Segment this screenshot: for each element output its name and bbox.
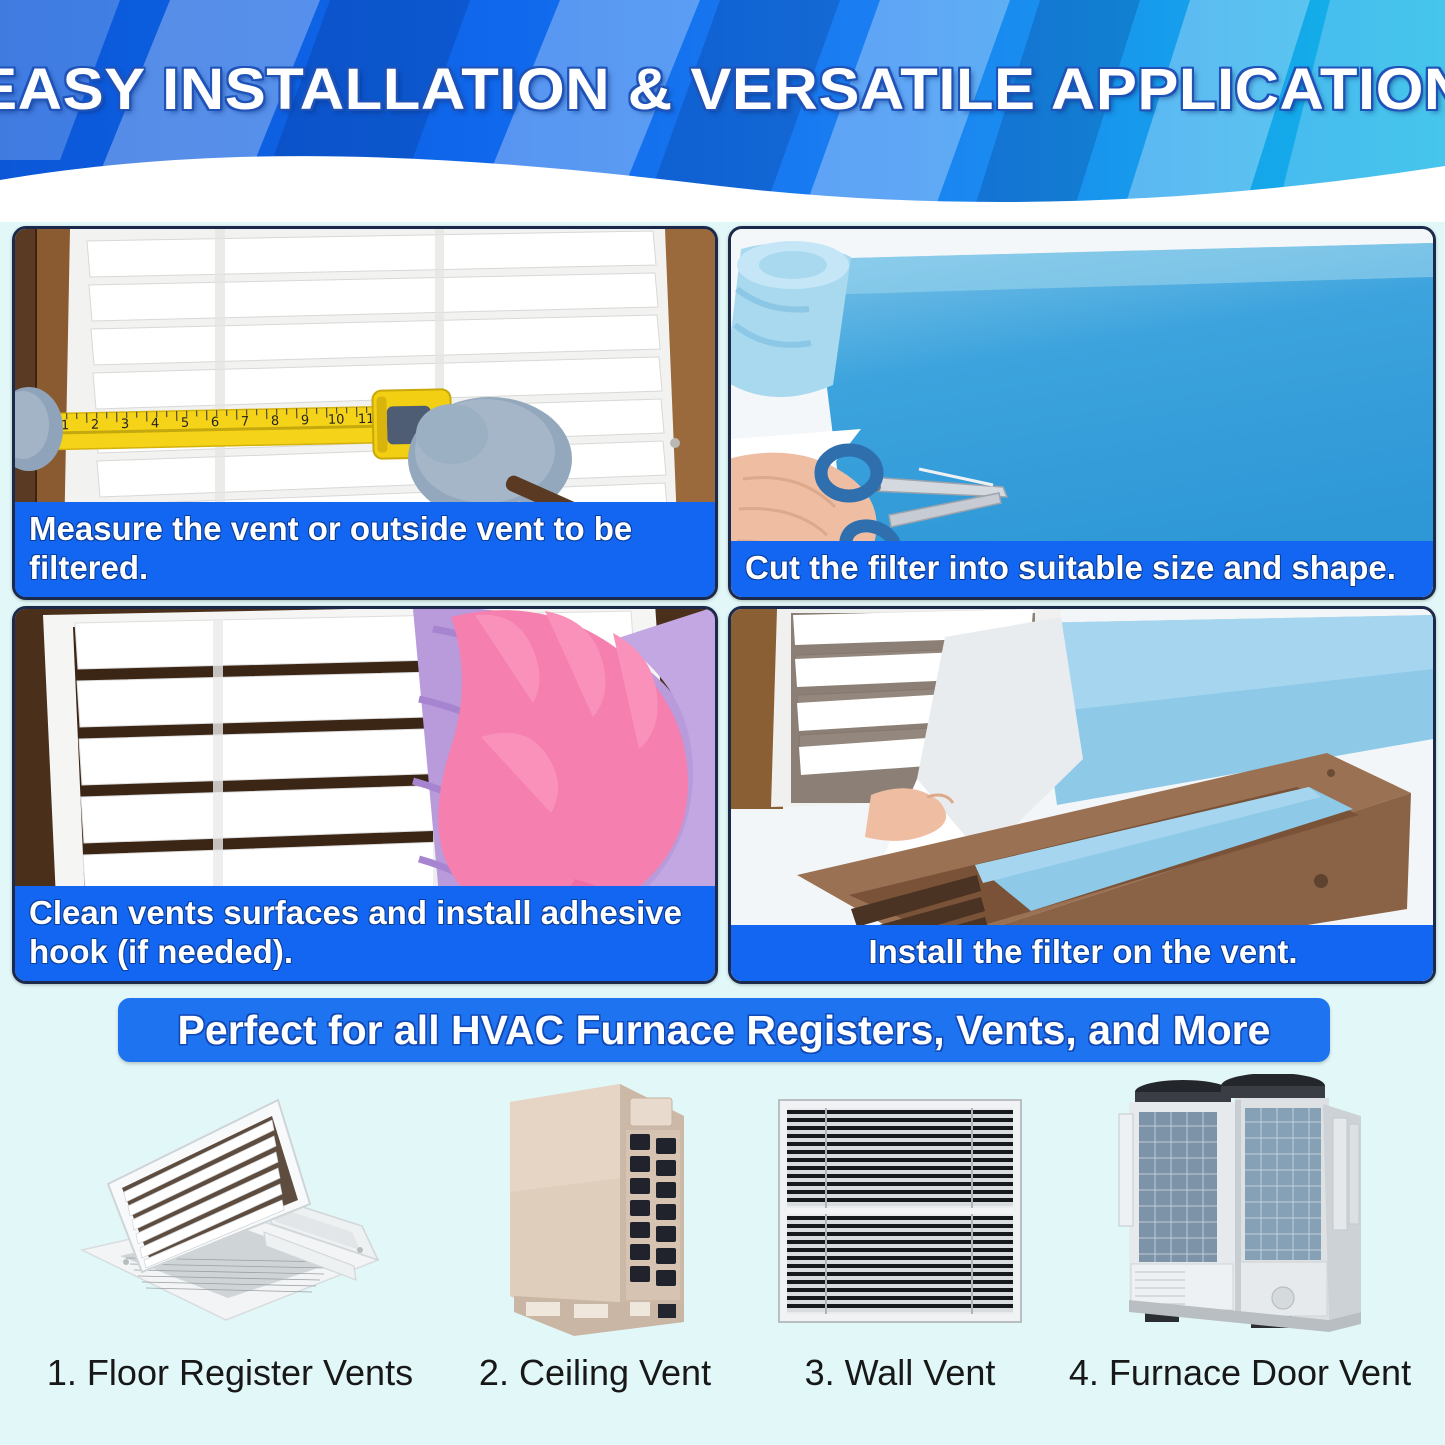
product-label-3: 3. Wall Vent <box>760 1352 1040 1394</box>
outdoor-condenser-unit-icon <box>470 1074 730 1344</box>
application-banner-text: Perfect for all HVAC Furnace Registers, … <box>178 1007 1271 1054</box>
dual-fan-condenser-unit-icon <box>1105 1074 1375 1344</box>
svg-text:9: 9 <box>301 413 310 428</box>
svg-text:3: 3 <box>121 417 130 432</box>
step-caption-1: Measure the vent or outside vent to be f… <box>15 502 715 597</box>
step-panel-3: Clean vents surfaces and install adhesiv… <box>12 606 718 984</box>
ceiling-cassette-vent-icon <box>60 1074 400 1344</box>
product-item-1 <box>60 1074 400 1344</box>
svg-text:7: 7 <box>241 414 250 429</box>
step-panel-4: Install the filter on the vent. <box>728 606 1436 984</box>
header-banner: EASY INSTALLATION & VERSATILE APPLICATIO… <box>0 0 1445 222</box>
step-panel-2: Cut the filter into suitable size and sh… <box>728 226 1436 600</box>
application-banner: Perfect for all HVAC Furnace Registers, … <box>118 998 1330 1062</box>
product-row <box>0 1074 1445 1374</box>
svg-text:5: 5 <box>181 416 190 431</box>
header-wave-divider <box>0 134 1445 222</box>
svg-text:6: 6 <box>211 415 220 430</box>
product-item-2 <box>470 1074 730 1344</box>
product-label-1: 1. Floor Register Vents <box>20 1352 440 1394</box>
page-title: EASY INSTALLATION & VERSATILE APPLICATIO… <box>0 56 1445 123</box>
product-label-2: 2. Ceiling Vent <box>440 1352 750 1394</box>
svg-text:8: 8 <box>271 414 280 429</box>
step-panel-1: 12 34 56 78 910 11 <box>12 226 718 600</box>
svg-text:4: 4 <box>151 416 160 431</box>
step-grid: 12 34 56 78 910 11 <box>12 226 1436 984</box>
product-item-3 <box>775 1096 1025 1366</box>
step-caption-4: Install the filter on the vent. <box>731 925 1433 981</box>
step-caption-2: Cut the filter into suitable size and sh… <box>731 541 1433 597</box>
product-label-4: 4. Furnace Door Vent <box>1040 1352 1440 1394</box>
svg-text:2: 2 <box>91 418 100 433</box>
step-caption-3: Clean vents surfaces and install adhesiv… <box>15 886 715 981</box>
linear-bar-grille-icon <box>775 1096 1025 1326</box>
svg-text:10: 10 <box>328 412 345 427</box>
product-item-4 <box>1105 1074 1375 1344</box>
